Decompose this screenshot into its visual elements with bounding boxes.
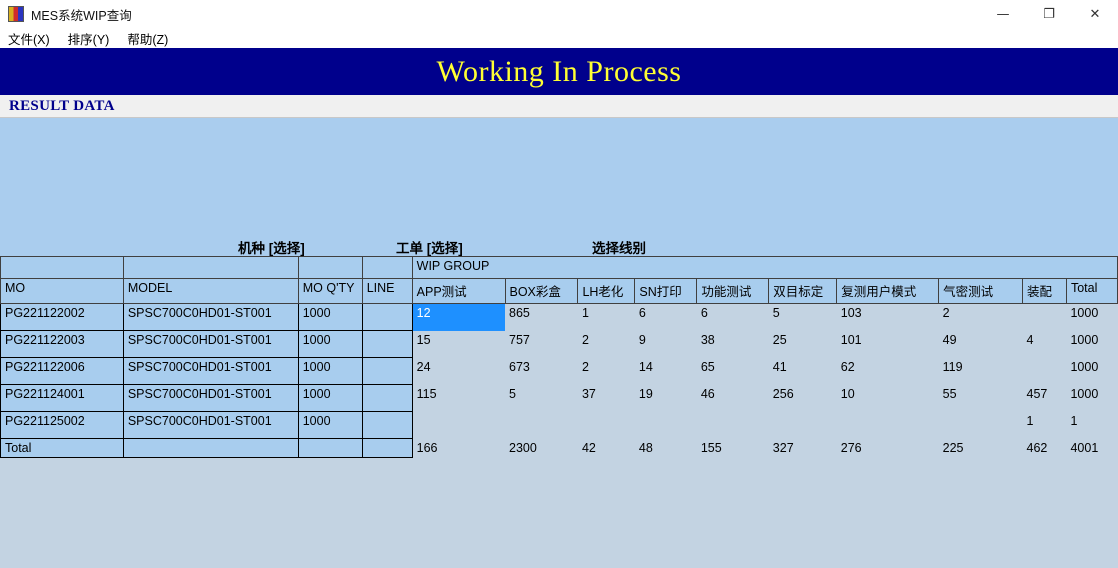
cell-airtight-test[interactable]: 2 <box>939 304 1023 331</box>
page-title: Working In Process <box>437 55 682 89</box>
cell-assembly[interactable]: 1 <box>1023 412 1067 439</box>
cell-box[interactable] <box>505 412 578 439</box>
menu-item-file[interactable]: 文件(X) <box>8 29 50 48</box>
minimize-icon[interactable]: — <box>980 0 1026 28</box>
cell-function-test[interactable]: 6 <box>697 304 769 331</box>
header-blank <box>362 257 412 279</box>
cell-lh-aging: 42 <box>578 439 635 458</box>
cell-total[interactable]: 1000 <box>1066 304 1117 331</box>
column-header-sn-print[interactable]: SN打印 <box>635 279 697 304</box>
cell-retest-user-mode: 276 <box>837 439 939 458</box>
cell-lh-aging[interactable]: 2 <box>578 358 635 385</box>
cell-line[interactable] <box>362 331 412 358</box>
column-header-binocular-cal[interactable]: 双目标定 <box>769 279 837 304</box>
page-banner: Working In Process <box>0 48 1118 95</box>
column-header-lh-aging[interactable]: LH老化 <box>578 279 635 304</box>
cell-box[interactable]: 865 <box>505 304 578 331</box>
cell-box[interactable]: 5 <box>505 385 578 412</box>
cell-line[interactable] <box>362 304 412 331</box>
wip-group-header: WIP GROUP <box>412 257 1117 279</box>
cell-function-test[interactable]: 65 <box>697 358 769 385</box>
line-group-caption: 选择线别 <box>592 237 810 257</box>
cell-sn-print[interactable]: 19 <box>635 385 697 412</box>
cell-lh-aging[interactable]: 1 <box>578 304 635 331</box>
result-data-bar: RESULT DATA <box>0 95 1118 118</box>
order-group-caption: 工单 [选择] <box>396 237 584 257</box>
table-row[interactable]: PG221122003 SPSC700C0HD01-ST001 1000 15 … <box>1 331 1118 358</box>
cell-mo[interactable]: PG221122002 <box>1 304 124 331</box>
menubar: 文件(X) 排序(Y) 帮助(Z) <box>0 28 1118 48</box>
cell-assembly[interactable]: 4 <box>1023 331 1067 358</box>
column-header-box[interactable]: BOX彩盒 <box>505 279 578 304</box>
app-icon <box>8 6 24 22</box>
table-group-header-row: WIP GROUP <box>1 257 1118 279</box>
cell-total[interactable]: 1000 <box>1066 331 1117 358</box>
cell-binocular-cal[interactable] <box>769 412 837 439</box>
cell-model <box>123 439 298 458</box>
cell-model[interactable]: SPSC700C0HD01-ST001 <box>123 412 298 439</box>
menu-item-help[interactable]: 帮助(Z) <box>127 29 168 48</box>
cell-mo-qty <box>298 439 362 458</box>
column-header-mo-qty[interactable]: MO Q'TY <box>298 279 362 304</box>
table-row[interactable]: PG221124001 SPSC700C0HD01-ST001 1000 115… <box>1 385 1118 412</box>
cell-box[interactable]: 673 <box>505 358 578 385</box>
cell-airtight-test[interactable]: 55 <box>939 385 1023 412</box>
cell-line[interactable] <box>362 358 412 385</box>
cell-airtight-test[interactable]: 119 <box>939 358 1023 385</box>
cell-function-test: 155 <box>697 439 769 458</box>
cell-sn-print[interactable] <box>635 412 697 439</box>
cell-binocular-cal[interactable]: 25 <box>769 331 837 358</box>
cell-retest-user-mode[interactable]: 10 <box>837 385 939 412</box>
cell-app-test[interactable]: 24 <box>412 358 505 385</box>
cell-app-test[interactable] <box>412 412 505 439</box>
cell-airtight-test: 225 <box>939 439 1023 458</box>
query-panel: 工单类型 ALL 区段名称 ALL 机种 [选择] SPSC700C0HD01-… <box>0 118 1118 256</box>
cell-mo-qty[interactable]: 1000 <box>298 358 362 385</box>
result-grid-area: WIP GROUP MO MODEL MO Q'TY LINE APP测试 BO… <box>0 256 1118 568</box>
cell-binocular-cal[interactable]: 5 <box>769 304 837 331</box>
cell-assembly[interactable] <box>1023 304 1067 331</box>
cell-model[interactable]: SPSC700C0HD01-ST001 <box>123 385 298 412</box>
restore-icon[interactable]: ❐ <box>1026 0 1072 28</box>
header-blank <box>123 257 298 279</box>
column-header-model[interactable]: MODEL <box>123 279 298 304</box>
cell-mo-qty[interactable]: 1000 <box>298 412 362 439</box>
cell-model[interactable]: SPSC700C0HD01-ST001 <box>123 358 298 385</box>
cell-assembly[interactable]: 457 <box>1023 385 1067 412</box>
cell-app-test[interactable]: 15 <box>412 331 505 358</box>
cell-sn-print[interactable]: 6 <box>635 304 697 331</box>
column-header-total[interactable]: Total <box>1066 279 1117 304</box>
result-data-label: RESULT DATA <box>9 98 115 115</box>
cell-retest-user-mode[interactable]: 101 <box>837 331 939 358</box>
window-titlebar: MES系统WIP查询 — ❐ ✕ <box>0 0 1118 28</box>
cell-lh-aging[interactable] <box>578 412 635 439</box>
cell-sn-print[interactable]: 9 <box>635 331 697 358</box>
table-row[interactable]: PG221122002 SPSC700C0HD01-ST001 1000 12 … <box>1 304 1118 331</box>
column-header-app-test[interactable]: APP测试 <box>412 279 505 304</box>
cell-total[interactable]: 1000 <box>1066 358 1117 385</box>
cell-app-test[interactable]: 12 <box>412 304 505 331</box>
table-row[interactable]: PG221122006 SPSC700C0HD01-ST001 1000 24 … <box>1 358 1118 385</box>
result-table: WIP GROUP MO MODEL MO Q'TY LINE APP测试 BO… <box>0 256 1118 458</box>
cell-model[interactable]: SPSC700C0HD01-ST001 <box>123 331 298 358</box>
cell-mo[interactable]: PG221122006 <box>1 358 124 385</box>
model-group-caption: 机种 [选择] <box>238 237 390 257</box>
cell-sn-print[interactable]: 14 <box>635 358 697 385</box>
window-controls: — ❐ ✕ <box>980 0 1118 28</box>
column-header-mo[interactable]: MO <box>1 279 124 304</box>
menu-item-sort[interactable]: 排序(Y) <box>68 29 110 48</box>
cell-box: 2300 <box>505 439 578 458</box>
close-icon[interactable]: ✕ <box>1072 0 1118 28</box>
cell-binocular-cal: 327 <box>769 439 837 458</box>
cell-sn-print: 48 <box>635 439 697 458</box>
cell-assembly: 462 <box>1023 439 1067 458</box>
cell-model[interactable]: SPSC700C0HD01-ST001 <box>123 304 298 331</box>
header-blank <box>1 257 124 279</box>
cell-mo-qty[interactable]: 1000 <box>298 385 362 412</box>
cell-mo-qty[interactable]: 1000 <box>298 304 362 331</box>
cell-binocular-cal[interactable]: 256 <box>769 385 837 412</box>
cell-total-label: Total <box>1 439 124 458</box>
cell-function-test[interactable] <box>697 412 769 439</box>
column-header-airtight-test[interactable]: 气密测试 <box>939 279 1023 304</box>
cell-lh-aging[interactable]: 2 <box>578 331 635 358</box>
cell-line[interactable] <box>362 412 412 439</box>
cell-mo[interactable]: PG221122003 <box>1 331 124 358</box>
column-header-function-test[interactable]: 功能测试 <box>697 279 769 304</box>
cell-app-test: 166 <box>412 439 505 458</box>
cell-mo[interactable]: PG221125002 <box>1 412 124 439</box>
cell-binocular-cal[interactable]: 41 <box>769 358 837 385</box>
cell-assembly[interactable] <box>1023 358 1067 385</box>
cell-total[interactable]: 1000 <box>1066 385 1117 412</box>
header-blank <box>298 257 362 279</box>
cell-lh-aging[interactable]: 37 <box>578 385 635 412</box>
cell-box[interactable]: 757 <box>505 331 578 358</box>
cell-function-test[interactable]: 46 <box>697 385 769 412</box>
cell-line[interactable] <box>362 385 412 412</box>
table-header-row: MO MODEL MO Q'TY LINE APP测试 BOX彩盒 LH老化 S… <box>1 279 1118 304</box>
column-header-line[interactable]: LINE <box>362 279 412 304</box>
cell-total[interactable]: 1 <box>1066 412 1117 439</box>
cell-total: 4001 <box>1066 439 1117 458</box>
cell-retest-user-mode[interactable]: 62 <box>837 358 939 385</box>
column-header-retest-user-mode[interactable]: 复测用户模式 <box>837 279 939 304</box>
cell-retest-user-mode[interactable] <box>837 412 939 439</box>
cell-retest-user-mode[interactable]: 103 <box>837 304 939 331</box>
cell-mo[interactable]: PG221124001 <box>1 385 124 412</box>
cell-app-test[interactable]: 115 <box>412 385 505 412</box>
column-header-assembly[interactable]: 装配 <box>1023 279 1067 304</box>
table-total-row[interactable]: Total 166 2300 42 48 155 327 276 225 462… <box>1 439 1118 458</box>
cell-line <box>362 439 412 458</box>
table-row[interactable]: PG221125002 SPSC700C0HD01-ST001 1000 1 1 <box>1 412 1118 439</box>
cell-mo-qty[interactable]: 1000 <box>298 331 362 358</box>
window-title: MES系统WIP查询 <box>31 5 132 24</box>
cell-function-test[interactable]: 38 <box>697 331 769 358</box>
cell-airtight-test[interactable]: 49 <box>939 331 1023 358</box>
cell-airtight-test[interactable] <box>939 412 1023 439</box>
